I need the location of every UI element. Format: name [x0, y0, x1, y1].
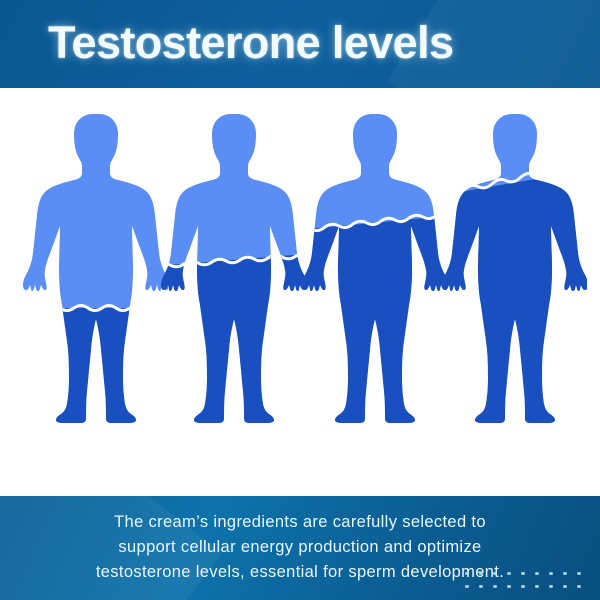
dot — [521, 585, 524, 588]
figure-light-fill — [18, 108, 168, 438]
dot — [521, 572, 524, 575]
dot — [549, 585, 552, 588]
dot — [577, 572, 580, 575]
figure-dark-fill — [437, 170, 587, 438]
infographic-root: Testosterone levels — [0, 0, 600, 600]
footer-line-2: support cellular energy production and o… — [22, 535, 578, 560]
dot — [507, 572, 510, 575]
dot — [535, 572, 538, 575]
body-figure-week-3 — [437, 108, 587, 438]
body-figure-week-2 — [297, 108, 447, 438]
dot — [493, 572, 496, 575]
footer-line-1: The cream’s ingredients are carefully se… — [22, 510, 578, 535]
dot — [465, 585, 468, 588]
dot — [535, 585, 538, 588]
dot — [563, 585, 566, 588]
dot — [563, 572, 566, 575]
header-band: Testosterone levels — [0, 0, 600, 88]
footer-band: The cream’s ingredients are carefully se… — [0, 496, 600, 600]
dot — [479, 572, 482, 575]
dot — [549, 572, 552, 575]
dot — [493, 585, 496, 588]
figure-dark-fill — [18, 308, 168, 438]
body-figure-baseline — [18, 108, 168, 438]
dot — [465, 572, 468, 575]
page-title: Testosterone levels — [48, 12, 453, 74]
figure-dark-fill — [156, 254, 306, 438]
figures-stage: WEEK 1 WEEK 2 WEEK 3 — [0, 88, 600, 496]
dot — [507, 585, 510, 588]
figure-dark-fill — [297, 216, 447, 438]
decorative-dot-grid — [460, 567, 586, 593]
body-figure-week-1 — [156, 108, 306, 438]
dot — [577, 585, 580, 588]
dot — [479, 585, 482, 588]
